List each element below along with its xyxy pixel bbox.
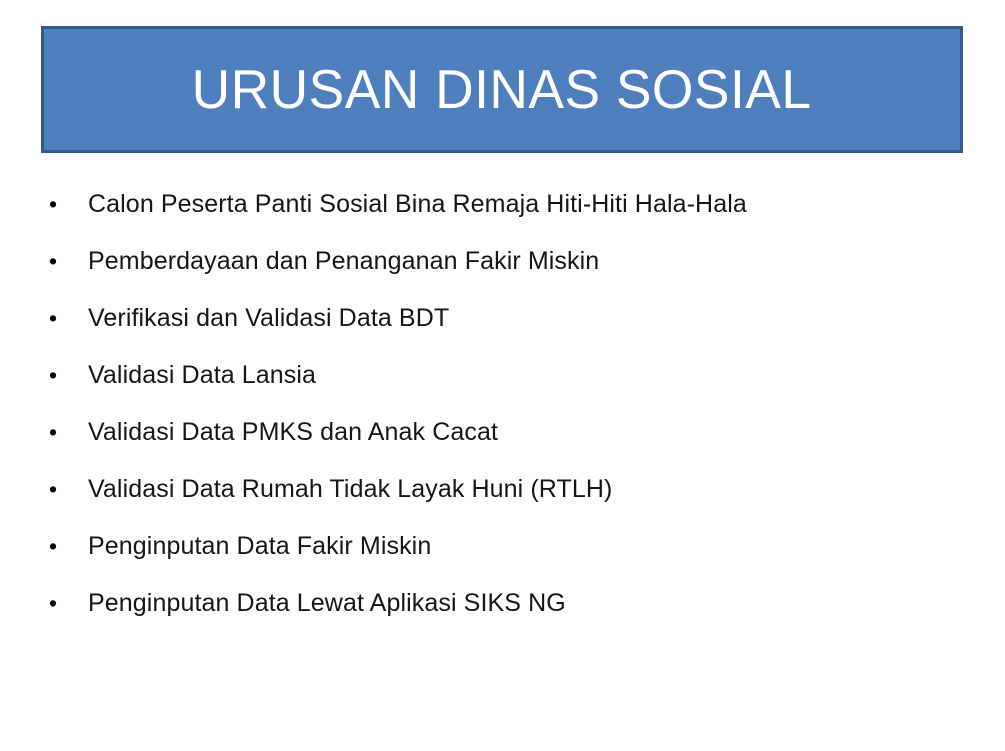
list-item-label: Penginputan Data Fakir Miskin: [88, 528, 974, 564]
list-item-label: Penginputan Data Lewat Aplikasi SIKS NG: [88, 585, 974, 621]
bullet-point-icon: •: [44, 528, 88, 564]
list-item: • Pemberdayaan dan Penanganan Fakir Misk…: [44, 243, 974, 300]
list-item-label: Calon Peserta Panti Sosial Bina Remaja H…: [88, 186, 974, 222]
list-item-label: Validasi Data PMKS dan Anak Cacat: [88, 414, 974, 450]
slide-canvas: URUSAN DINAS SOSIAL • Calon Peserta Pant…: [0, 0, 1005, 751]
bullet-point-icon: •: [44, 243, 88, 279]
list-item-label: Validasi Data Rumah Tidak Layak Huni (RT…: [88, 471, 974, 507]
page-title: URUSAN DINAS SOSIAL: [192, 61, 812, 119]
list-item: • Validasi Data Rumah Tidak Layak Huni (…: [44, 471, 974, 528]
bullet-point-icon: •: [44, 186, 88, 222]
list-item-label: Pemberdayaan dan Penanganan Fakir Miskin: [88, 243, 974, 279]
list-item: • Penginputan Data Lewat Aplikasi SIKS N…: [44, 585, 974, 642]
list-item: • Validasi Data Lansia: [44, 357, 974, 414]
list-item-label: Validasi Data Lansia: [88, 357, 974, 393]
bullet-point-icon: •: [44, 471, 88, 507]
list-item: • Validasi Data PMKS dan Anak Cacat: [44, 414, 974, 471]
bullet-point-icon: •: [44, 357, 88, 393]
list-item: • Penginputan Data Fakir Miskin: [44, 528, 974, 585]
list-item-label: Verifikasi dan Validasi Data BDT: [88, 300, 974, 336]
title-banner: URUSAN DINAS SOSIAL: [41, 26, 963, 153]
bullet-point-icon: •: [44, 585, 88, 621]
list-item: • Calon Peserta Panti Sosial Bina Remaja…: [44, 186, 974, 243]
bullet-point-icon: •: [44, 300, 88, 336]
bullet-point-icon: •: [44, 414, 88, 450]
list-item: • Verifikasi dan Validasi Data BDT: [44, 300, 974, 357]
bullet-list: • Calon Peserta Panti Sosial Bina Remaja…: [44, 186, 974, 642]
